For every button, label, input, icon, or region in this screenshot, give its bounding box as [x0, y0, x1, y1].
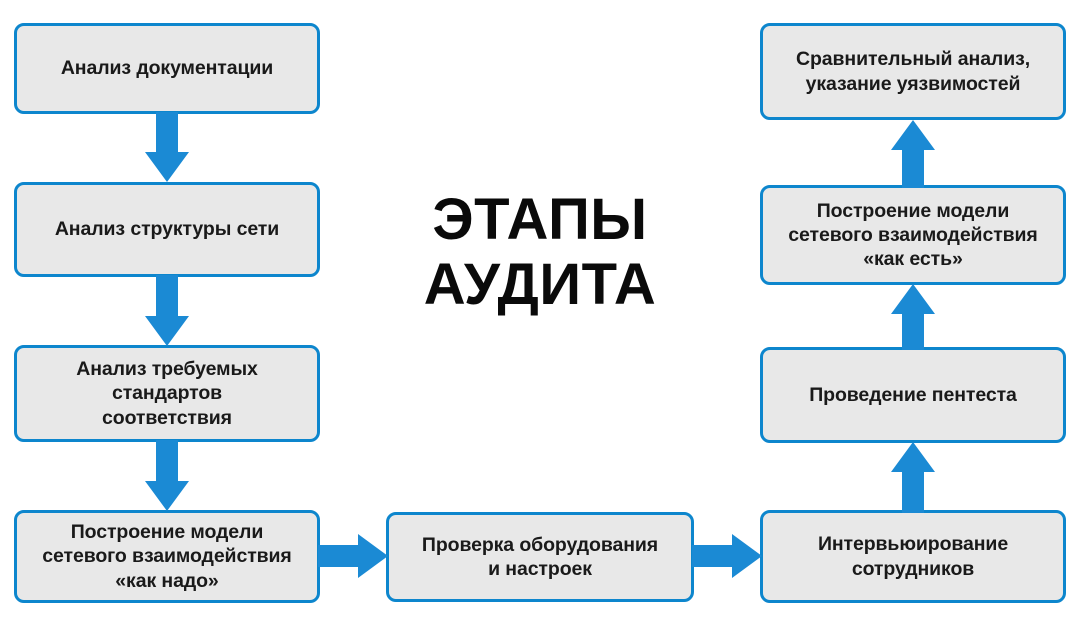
node-label: Построение модели сетевого взаимодействи… [788, 199, 1037, 272]
node-sravnitelnyy-analiz[interactable]: Сравнительный анализ, указание уязвимост… [760, 23, 1066, 120]
arrow-up-icon [891, 282, 935, 350]
arrow-down-icon [145, 112, 189, 184]
node-provedenie-pentesta[interactable]: Проведение пентеста [760, 347, 1066, 443]
arrow-up-icon [891, 118, 935, 188]
node-label: Построение модели сетевого взаимодействи… [42, 520, 291, 593]
arrow-right-icon [318, 534, 390, 578]
node-label: Интервьюирование сотрудников [818, 532, 1008, 580]
diagram-title: ЭТАПЫ АУДИТА [386, 188, 694, 318]
arrow-down-3 [145, 440, 189, 513]
arrow-down-icon [145, 440, 189, 513]
node-analiz-struktury-seti[interactable]: Анализ структуры сети [14, 182, 320, 277]
arrow-up-7 [891, 282, 935, 350]
audit-stages-diagram: Анализ документации Анализ структуры сет… [0, 0, 1080, 618]
node-label: Анализ структуры сети [55, 217, 279, 241]
node-intervyuirovanie[interactable]: Интервьюирование сотрудников [760, 510, 1066, 603]
arrow-up-icon [891, 440, 935, 513]
arrow-right-4 [318, 534, 390, 578]
node-label: Анализ документации [61, 56, 273, 80]
node-analiz-standartov[interactable]: Анализ требуемых стандартов соответствия [14, 345, 320, 442]
arrow-up-8 [891, 118, 935, 188]
arrow-right-5 [692, 534, 764, 578]
node-model-kak-nado[interactable]: Построение модели сетевого взаимодействи… [14, 510, 320, 603]
arrow-down-2 [145, 275, 189, 348]
node-label: Сравнительный анализ, указание уязвимост… [796, 47, 1030, 95]
arrow-down-1 [145, 112, 189, 184]
node-label: Анализ требуемых стандартов соответствия [76, 357, 258, 430]
node-label: Проверка оборудования и настроек [422, 533, 658, 581]
arrow-down-icon [145, 275, 189, 348]
node-model-kak-est[interactable]: Построение модели сетевого взаимодействи… [760, 185, 1066, 285]
arrow-up-6 [891, 440, 935, 513]
arrow-right-icon [692, 534, 764, 578]
node-proverka-oborudovaniya[interactable]: Проверка оборудования и настроек [386, 512, 694, 602]
node-label: Проведение пентеста [809, 383, 1017, 407]
node-analiz-dokumentacii[interactable]: Анализ документации [14, 23, 320, 114]
